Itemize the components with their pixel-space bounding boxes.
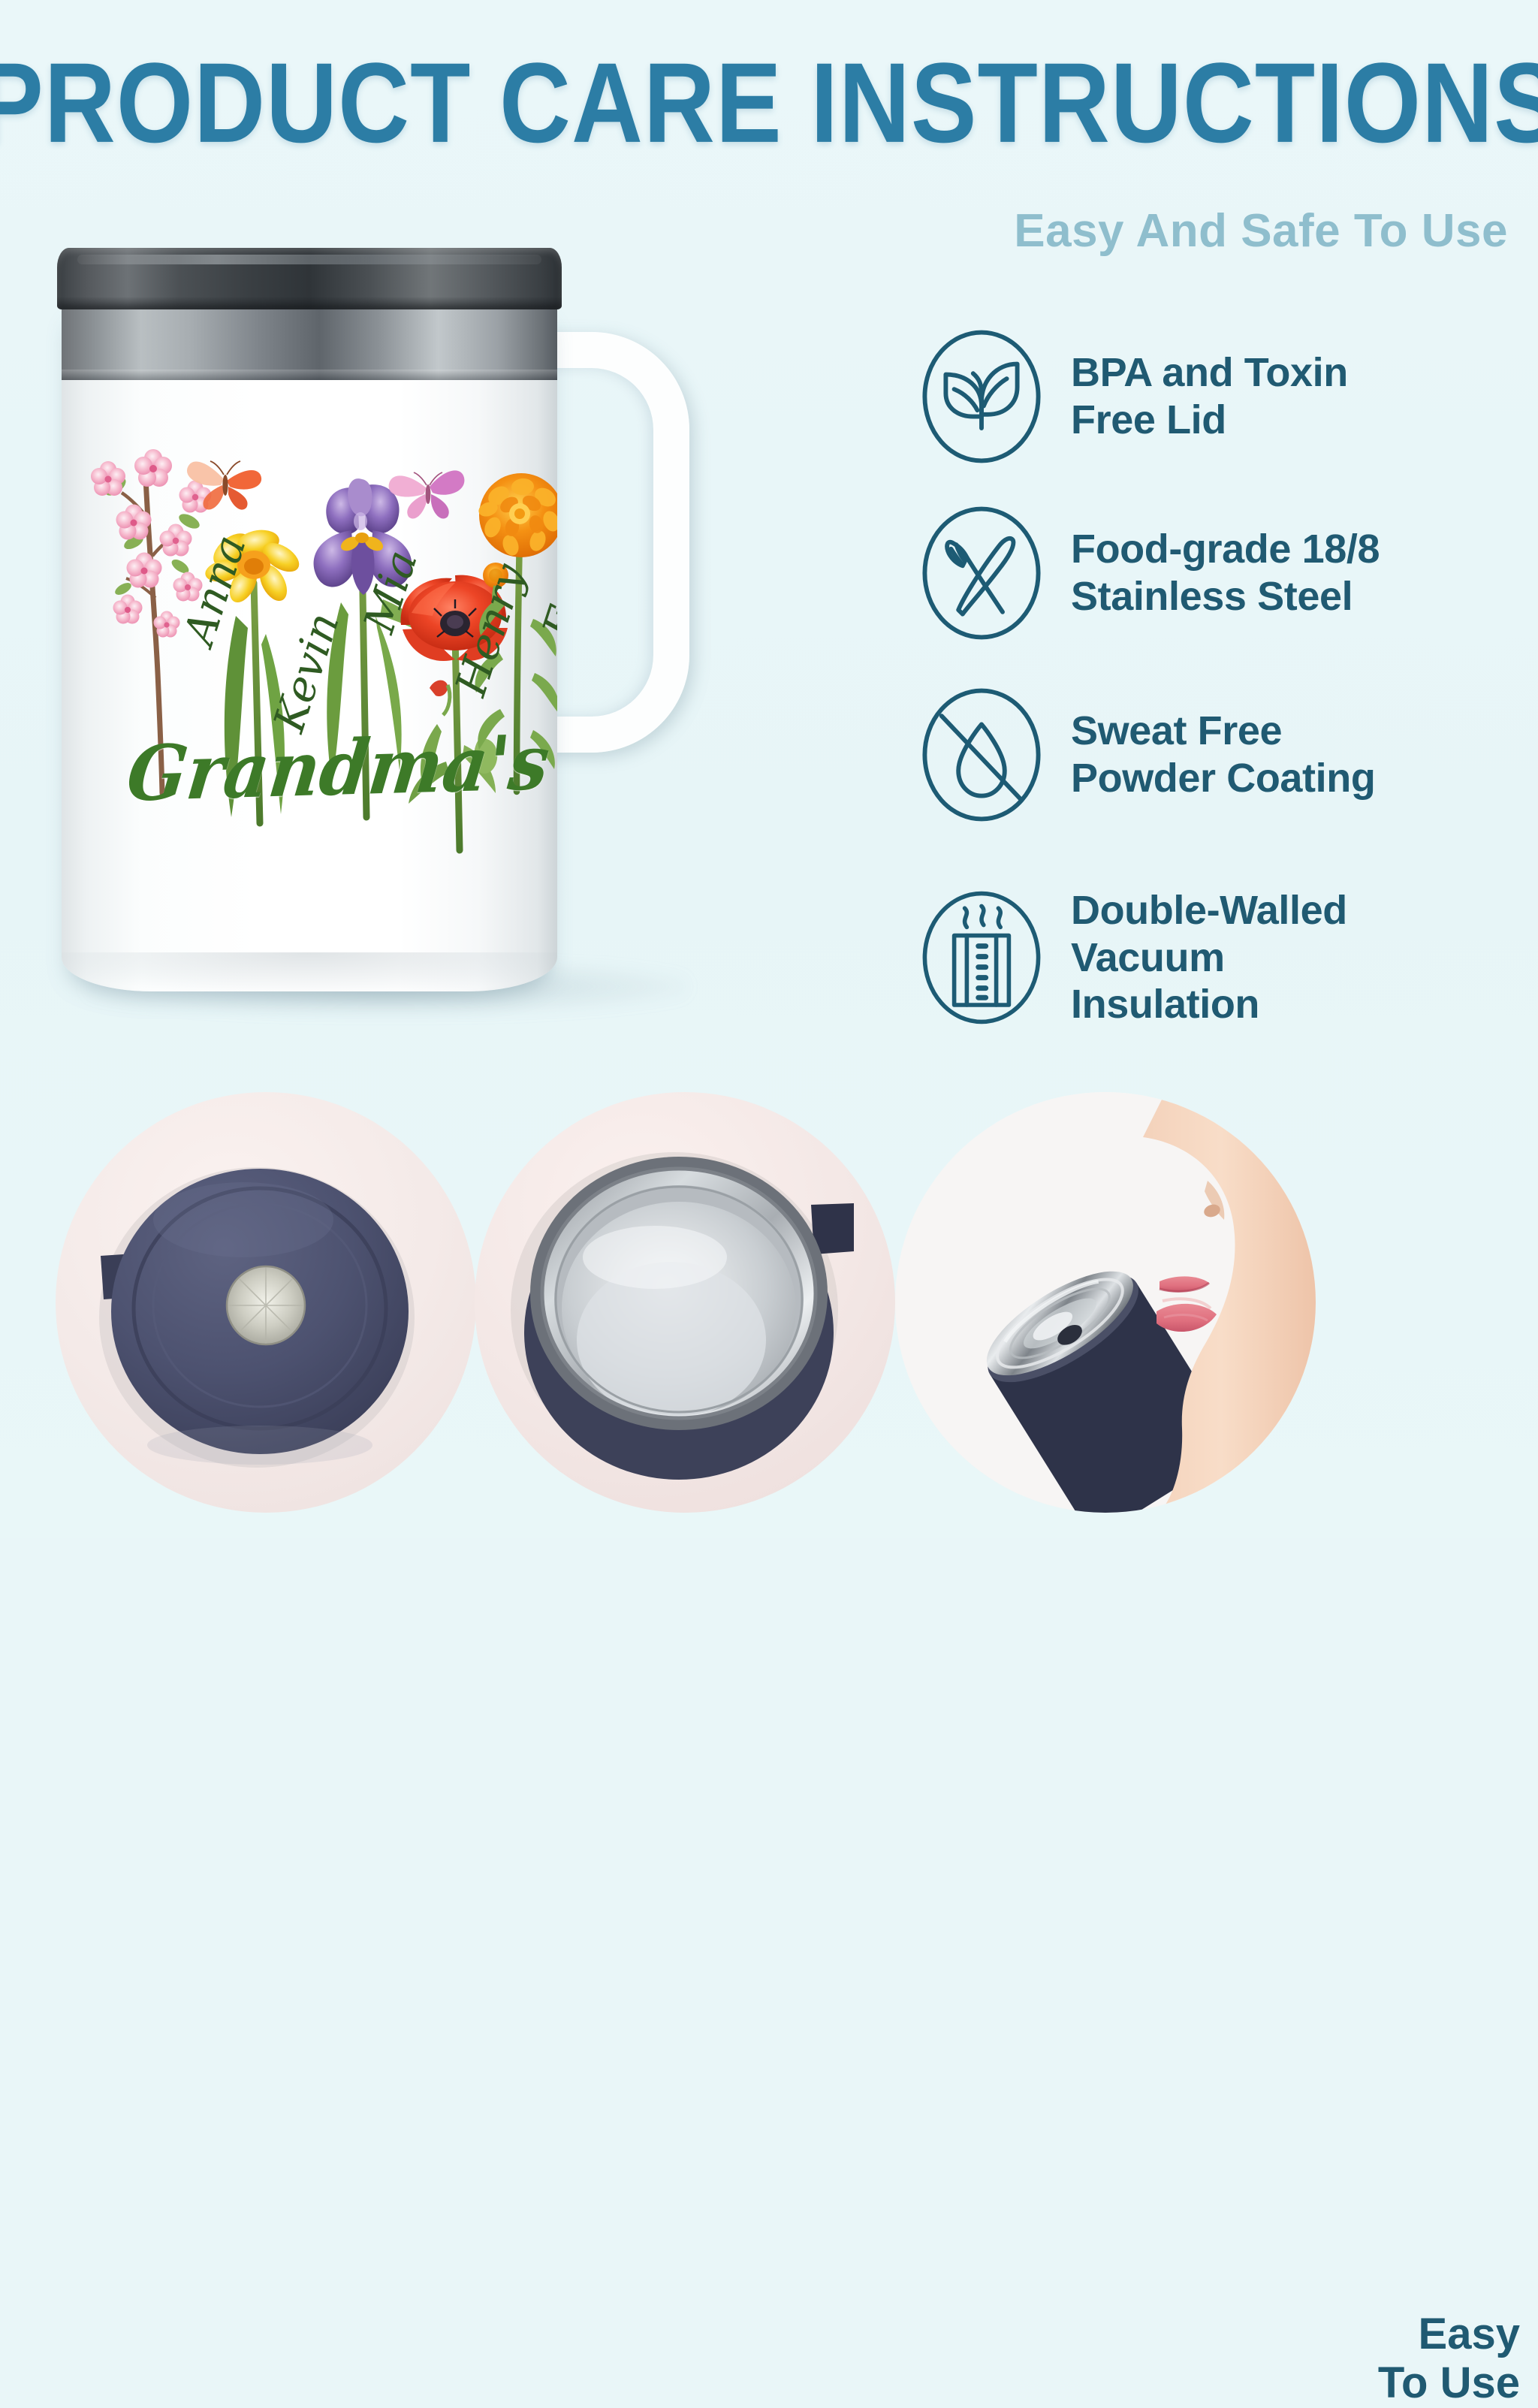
- mug-body: Anna Kevin Mia Henry Emily Grandma's Gar…: [62, 306, 557, 991]
- feature-line: Food-grade 18/8: [1071, 526, 1380, 573]
- feature-label: Sweat Free Powder Coating: [1071, 708, 1375, 801]
- feature-vacuum-insulation: Double-Walled Vacuum Insulation: [918, 849, 1518, 1067]
- butterfly-pink: [389, 470, 465, 518]
- caption-line: Easy: [1295, 2310, 1520, 2359]
- feature-line: BPA and Toxin: [1071, 349, 1348, 397]
- feature-line: Sweat Free: [1071, 708, 1375, 755]
- gallery-caption-easy-to-use: Easy To Use: [1295, 2310, 1520, 2408]
- no-water-drop-icon: [918, 686, 1045, 825]
- feature-bpa-free-lid: BPA and Toxin Free Lid: [918, 308, 1518, 484]
- gallery-photo-sipping: [895, 1092, 1316, 1513]
- feature-line: Powder Coating: [1071, 755, 1375, 802]
- feature-line: Free Lid: [1071, 397, 1348, 444]
- page-title: PRODUCT CARE INSTRUCTIONS: [0, 47, 1538, 160]
- crossed-fork-knife-icon: [918, 503, 1045, 642]
- product-photo-gallery: Easy To Use: [0, 1082, 1538, 1538]
- feature-line: Double-Walled: [1071, 887, 1347, 934]
- leaf-sprout-icon: [918, 327, 1045, 466]
- infographic-canvas: PRODUCT CARE INSTRUCTIONS Easy And Safe …: [0, 0, 1538, 1538]
- feature-stainless-steel: Food-grade 18/8 Stainless Steel: [918, 484, 1518, 661]
- gallery-photo-lid-top: [56, 1092, 476, 1513]
- gallery-photo-interior: [475, 1092, 895, 1513]
- feature-line: Stainless Steel: [1071, 573, 1380, 620]
- product-hero-image: Anna Kevin Mia Henry Emily Grandma's Gar…: [45, 248, 864, 1059]
- feature-line: Vacuum: [1071, 934, 1347, 982]
- feature-label: Food-grade 18/8 Stainless Steel: [1071, 526, 1380, 620]
- feature-line: Insulation: [1071, 981, 1347, 1028]
- feature-label: BPA and Toxin Free Lid: [1071, 349, 1348, 443]
- feature-label: Double-Walled Vacuum Insulation: [1071, 887, 1347, 1028]
- mug-lid: [57, 248, 562, 309]
- caption-line: To Use: [1295, 2359, 1520, 2408]
- page-subtitle: Easy And Safe To Use: [1014, 204, 1508, 258]
- mug-garden-title: Grandma's Garden: [122, 718, 553, 819]
- double-wall-insulation-icon: [918, 889, 1045, 1027]
- feature-list: BPA and Toxin Free Lid Food-grade 18/8: [918, 308, 1518, 1067]
- feature-sweat-free: Sweat Free Powder Coating: [918, 661, 1518, 849]
